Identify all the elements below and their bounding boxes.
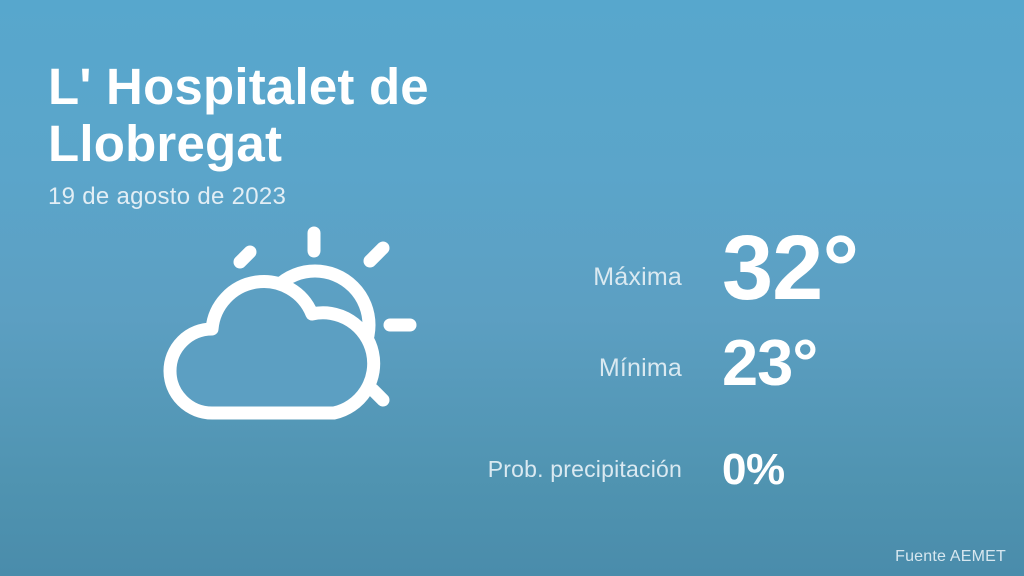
page-title: L' Hospitalet de Llobregat [48,58,628,172]
precipitacion-value: 0% [722,448,984,492]
partly-cloudy-day-icon [152,218,442,433]
forecast-date: 19 de agosto de 2023 [48,172,628,211]
weather-card: L' Hospitalet de Llobregat 19 de agosto … [0,0,1024,576]
minima-label: Mínima [404,354,722,383]
sun-ray-upper-right [370,248,383,261]
reading-row-maxima: Máxima 32° [404,222,984,330]
precipitacion-label: Prob. precipitación [404,456,722,483]
cloud-mask [170,282,374,413]
maxima-label: Máxima [404,263,722,292]
reading-row-precipitacion: Prob. precipitación 0% [404,448,984,492]
readings-list: Máxima 32° Mínima 23° Prob. precipitació… [404,222,984,492]
reading-row-minima: Mínima 23° [404,330,984,448]
sun-ray-lower-right [373,390,383,400]
source-attribution: Fuente AEMET [895,548,1006,566]
minima-value: 23° [722,330,984,395]
maxima-value: 32° [722,222,984,314]
header: L' Hospitalet de Llobregat 19 de agosto … [48,58,628,211]
sun-ray-upper-left [240,252,250,262]
